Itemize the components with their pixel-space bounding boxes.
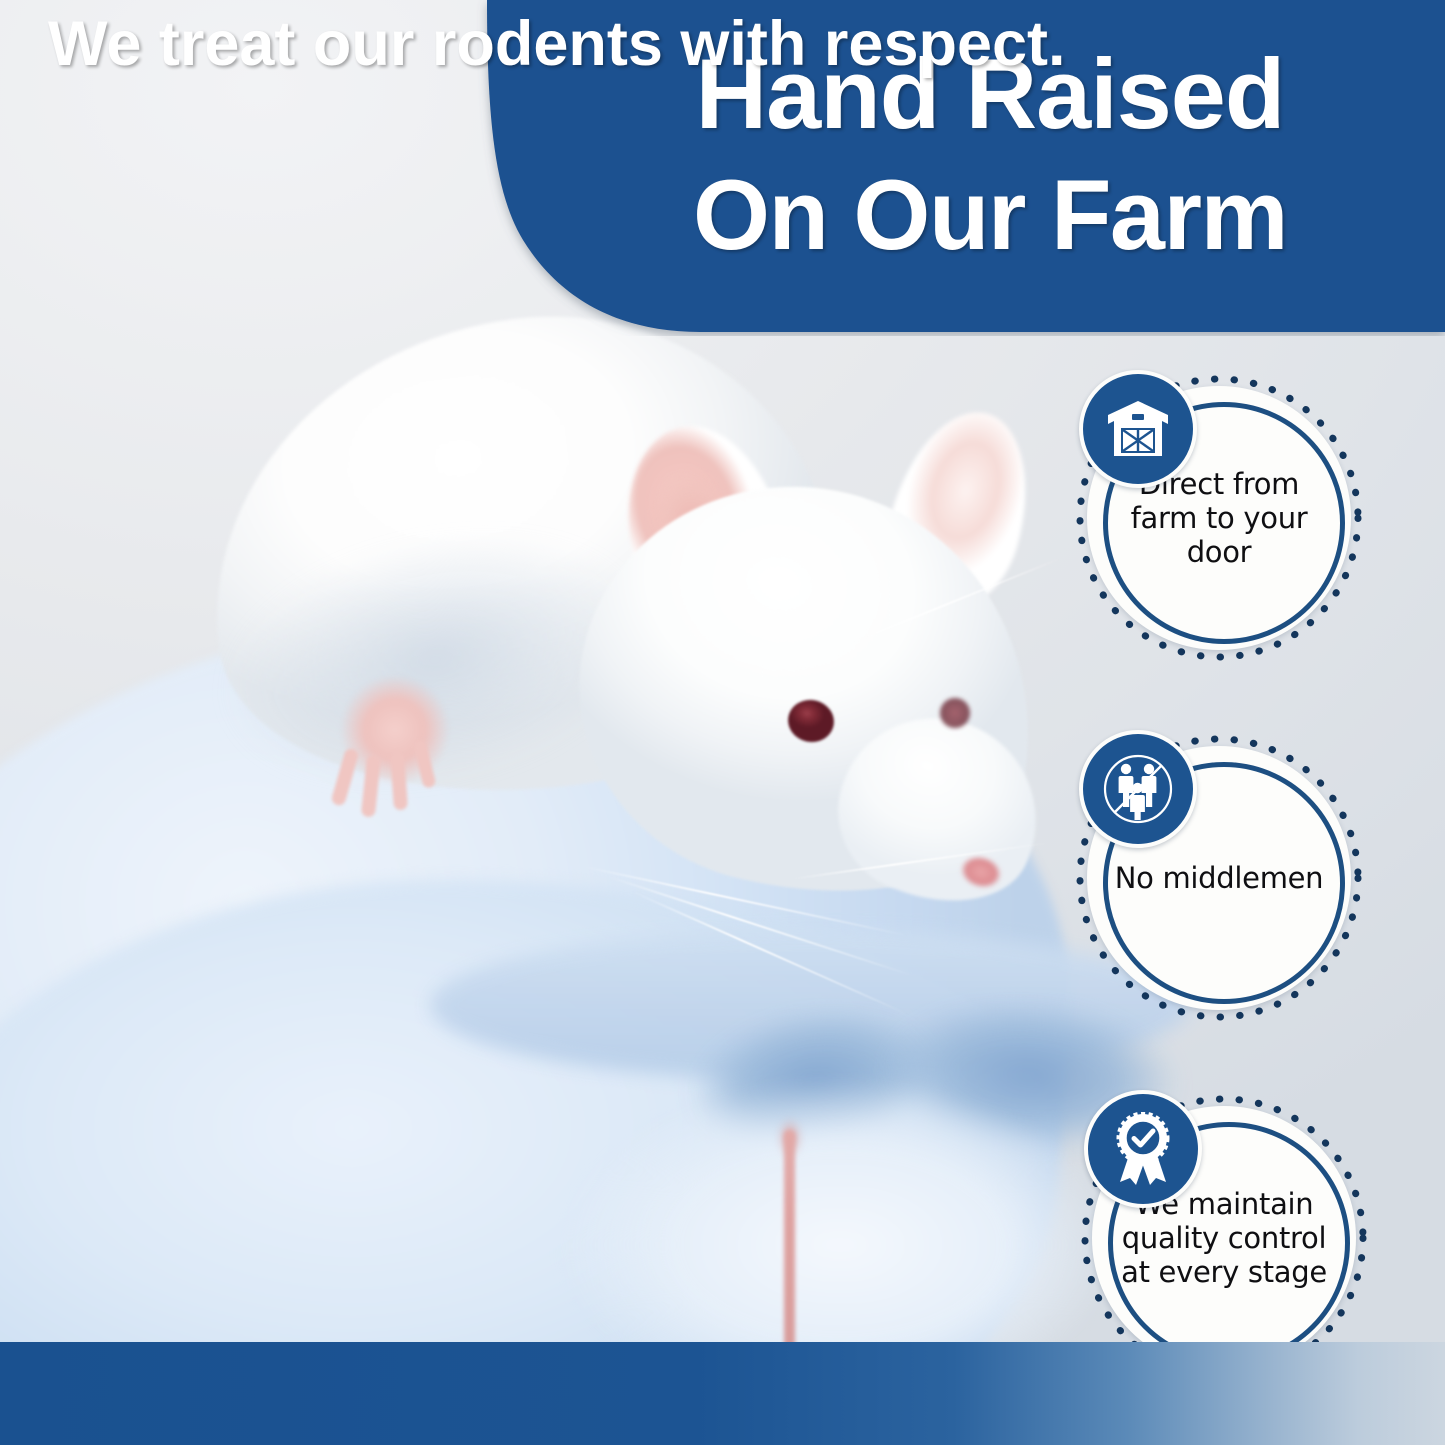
mouse-eye-right [940,698,970,728]
badge-direct-from-farm[interactable]: Direct from farm to your door [1073,372,1365,664]
badge-no-middlemen[interactable]: No middlemen [1073,732,1365,1024]
barn-icon [1106,399,1170,459]
award-ribbon-icon [1110,1112,1176,1186]
footer-tagline: We treat our rodents with respect. [48,8,1066,80]
footer-banner [0,1342,1445,1445]
badge-quality-control[interactable]: We maintain quality control at every sta… [1078,1092,1370,1384]
promo-poster: Hand Raised On Our Farm Direct from farm… [0,0,1445,1445]
no-people-icon [1101,752,1175,826]
footer-top-edge [0,1342,1445,1345]
white-mouse [150,300,1050,1020]
badge-icon-holder [1079,730,1197,848]
mouse-whisker [633,891,908,1015]
mouse-tail [784,1130,795,1360]
badge-icon-holder [1079,370,1197,488]
headline-line-2: On Our Farm [560,155,1420,276]
badge-icon-holder [1084,1090,1202,1208]
